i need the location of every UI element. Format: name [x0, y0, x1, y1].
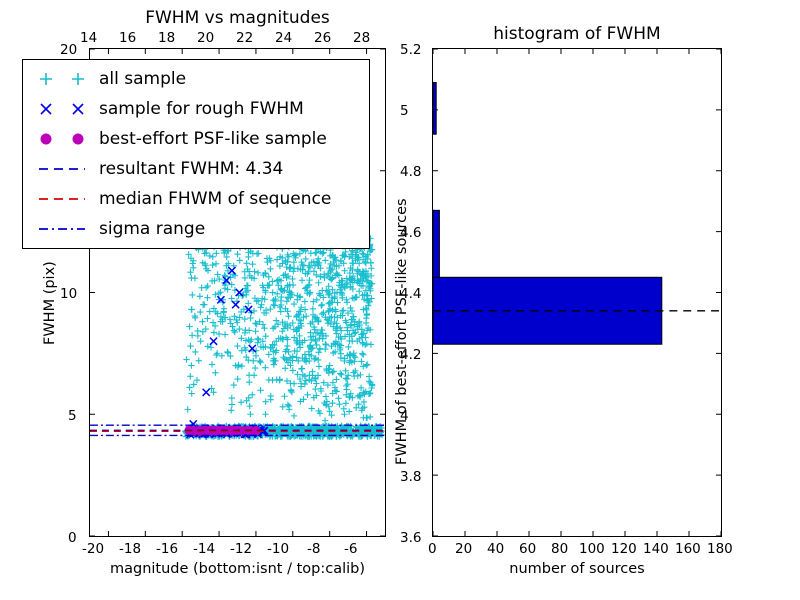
legend-label: sigma range: [99, 219, 205, 239]
left-y-axis-title: FWHM (pix): [42, 261, 58, 345]
legend-label: all sample: [99, 69, 186, 89]
legend-item-sigma-range: sigma range: [23, 214, 369, 244]
matplotlib-figure: FWHM vs magnitudes 14 16 18 20 22 24 26 …: [0, 0, 800, 600]
legend-label: median FHWM of sequence: [99, 189, 331, 209]
legend-item-median-fwhm: median FHWM of sequence: [23, 184, 369, 214]
legend-label: best-effort PSF-like sample: [99, 129, 327, 149]
left-plot-title: FWHM vs magnitudes: [89, 8, 386, 28]
legend-item-psf-like: best-effort PSF-like sample: [23, 124, 369, 154]
right-plot-title: histogram of FWHM: [432, 24, 722, 44]
left-x-axis-title: magnitude (bottom:isnt / top:calib): [89, 561, 386, 577]
legend-marker-circle-icon: [31, 124, 93, 154]
legend-item-resultant-fwhm: resultant FWHM: 4.34: [23, 154, 369, 184]
legend-marker-dashed-red-icon: [31, 184, 93, 214]
legend-label: resultant FWHM: 4.34: [99, 159, 283, 179]
legend-item-rough-fwhm: sample for rough FWHM: [23, 94, 369, 124]
histogram-axes[interactable]: [432, 48, 722, 537]
legend-marker-x-icon: [31, 94, 93, 124]
histogram-data-layer: [433, 49, 721, 536]
right-x-axis-title: number of sources: [432, 561, 722, 577]
legend-label: sample for rough FWHM: [99, 99, 304, 119]
legend-marker-plus-icon: [31, 64, 93, 94]
right-y-axis-title: FWHM of best-effort PSF-like sources: [394, 198, 410, 465]
legend: all sample sample for rough FWHM b: [22, 59, 370, 249]
legend-item-all-sample: all sample: [23, 64, 369, 94]
legend-marker-dashdot-icon: [31, 214, 93, 244]
legend-marker-dashed-blue-icon: [31, 154, 93, 184]
